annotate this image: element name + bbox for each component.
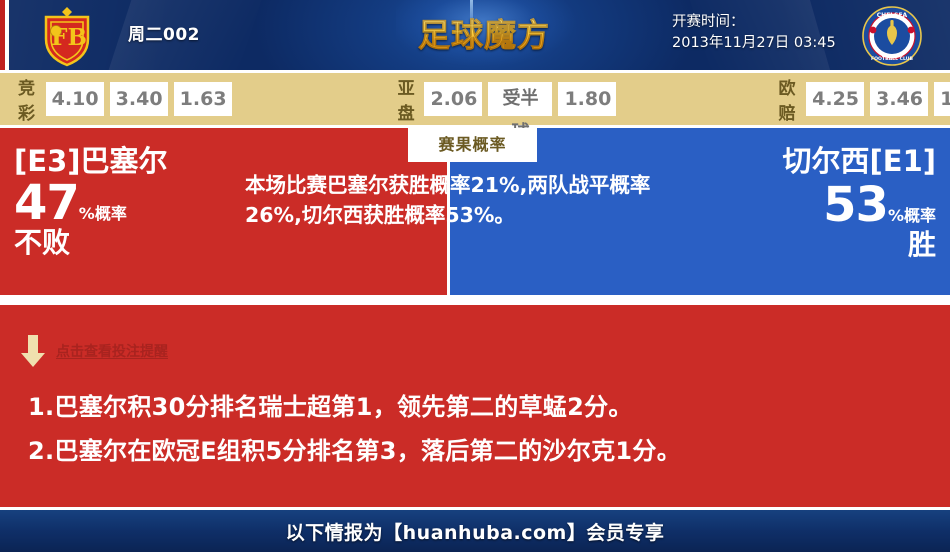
odds-cell[interactable]: 1.80 <box>558 82 616 116</box>
header-left-white-strip <box>5 0 9 70</box>
home-probability-value: 47 <box>14 175 79 231</box>
away-outcome-label: 胜 <box>696 228 936 262</box>
betting-reminder-link-row[interactable]: 点击查看投注提醒 <box>20 333 168 369</box>
site-logo[interactable]: 足球魔方 <box>404 9 564 61</box>
header-bar: FB 周二002 足球魔方 开赛时间： 2013年11月27日 03:45 CH… <box>0 0 950 70</box>
probability-panel: 赛果概率 [E3]巴塞尔 47%概率 不败 本场比赛巴塞尔获胜概率21%,两队战… <box>0 128 950 295</box>
svg-text:FB: FB <box>51 24 87 51</box>
home-outcome-label: 不败 <box>14 226 246 260</box>
odds-group-oupei: 欧赔 4.25 3.46 1.84 <box>778 74 950 124</box>
odds-cell[interactable]: 2.06 <box>424 82 482 116</box>
odds-group-yapan: 亚盘 2.06 受半球 1.80 <box>398 74 623 124</box>
match-preview-page: FB 周二002 足球魔方 开赛时间： 2013年11月27日 03:45 CH… <box>0 0 950 552</box>
chelsea-crest-icon: CHELSEA FOOTBALL CLUB <box>862 6 922 66</box>
odds-cell[interactable]: 1.84 <box>934 82 950 116</box>
kickoff-value: 2013年11月27日 03:45 <box>672 33 836 54</box>
away-team-block: 切尔西[E1] 53%概率 胜 <box>696 142 936 262</box>
away-probability-suffix: %概率 <box>888 206 936 225</box>
home-team-block: [E3]巴塞尔 47%概率 不败 <box>14 142 246 260</box>
reminder-list: 1.巴塞尔积30分排名瑞士超第1，领先第二的草蜢2分。 2.巴塞尔在欧冠E组积5… <box>28 385 922 473</box>
odds-bar: 竞彩 4.10 3.40 1.63 亚盘 2.06 受半球 1.80 欧赔 4.… <box>0 70 950 125</box>
fc-basel-crest-icon: FB <box>38 5 96 67</box>
footer-bar: 以下情报为【huanhuba.com】会员专享 <box>0 507 950 552</box>
home-probability-suffix: %概率 <box>79 204 127 223</box>
odds-group-jingcai: 竞彩 4.10 3.40 1.63 <box>18 74 238 124</box>
betting-reminder-link[interactable]: 点击查看投注提醒 <box>56 341 168 361</box>
arrow-down-icon <box>20 333 46 369</box>
odds-cell[interactable]: 4.25 <box>806 82 864 116</box>
match-number: 周二002 <box>128 20 200 45</box>
result-probability-tab: 赛果概率 <box>408 128 537 162</box>
odds-cell[interactable]: 3.46 <box>870 82 928 116</box>
odds-group-label: 欧赔 <box>778 74 798 124</box>
probability-summary-text: 本场比赛巴塞尔获胜概率21%,两队战平概率26%,切尔西获胜概率53%。 <box>245 170 705 230</box>
svg-text:CHELSEA: CHELSEA <box>877 12 908 19</box>
footer-text: 以下情报为【huanhuba.com】会员专享 <box>286 518 665 545</box>
odds-cell[interactable]: 4.10 <box>46 82 104 116</box>
home-probability: 47%概率 <box>14 178 246 228</box>
odds-group-label: 亚盘 <box>398 74 417 124</box>
betting-reminder-section: 点击查看投注提醒 1.巴塞尔积30分排名瑞士超第1，领先第二的草蜢2分。 2.巴… <box>0 302 950 507</box>
kickoff-label: 开赛时间： <box>672 12 836 33</box>
svg-text:FOOTBALL CLUB: FOOTBALL CLUB <box>871 56 913 62</box>
list-item: 1.巴塞尔积30分排名瑞士超第1，领先第二的草蜢2分。 <box>28 385 922 429</box>
away-probability-value: 53 <box>823 177 888 233</box>
list-item: 2.巴塞尔在欧冠E组积5分排名第3，落后第二的沙尔克1分。 <box>28 429 922 473</box>
kickoff-time: 开赛时间： 2013年11月27日 03:45 <box>672 12 836 54</box>
site-logo-text: 足球魔方 <box>404 9 564 61</box>
odds-cell-handicap[interactable]: 受半球 <box>488 82 552 116</box>
away-probability: 53%概率 <box>696 180 936 230</box>
odds-group-label: 竞彩 <box>18 74 38 124</box>
odds-cell[interactable]: 1.63 <box>174 82 232 116</box>
odds-cell[interactable]: 3.40 <box>110 82 168 116</box>
away-team-name: 切尔西[E1] <box>696 142 936 180</box>
